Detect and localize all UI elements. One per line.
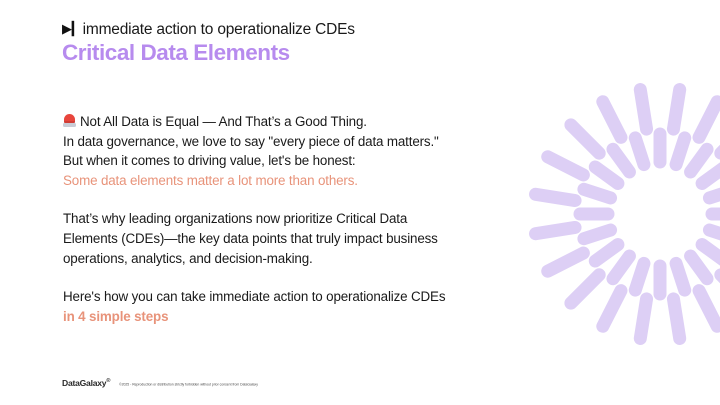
sunburst-ray [673, 299, 679, 339]
sunburst-rays [536, 90, 720, 339]
fast-forward-icon: ▶▎ [62, 19, 82, 38]
page-title: Critical Data Elements [62, 40, 532, 66]
sunburst-ray [595, 245, 618, 261]
cta-accent-line: in 4 simple steps [63, 307, 548, 327]
sunburst-ray [640, 299, 646, 339]
slide-footer: DataGalaxy® ©2025 - Reproduction or dist… [62, 378, 258, 388]
intro-lead-text: Not All Data is Equal — And That’s a Goo… [80, 114, 367, 129]
sunburst-ray [548, 253, 584, 271]
sunburst-ray [676, 263, 685, 290]
sunburst-ray [635, 263, 644, 290]
datagalaxy-logo: DataGalaxy® [62, 378, 110, 388]
slide-header: ▶▎immediate action to operationalize CDE… [62, 20, 532, 66]
why-line-2: Elements (CDEs)—the key data points that… [63, 229, 548, 249]
sunburst-ray [699, 291, 717, 327]
sunburst-ray [702, 245, 720, 261]
sunburst-ray [691, 149, 707, 172]
sunburst-ray [584, 189, 611, 198]
slide-canvas: ▶▎immediate action to operationalize CDE… [0, 0, 720, 405]
sunburst-ray [676, 138, 685, 165]
intro-line-2: In data governance, we love to say "ever… [63, 132, 548, 152]
cta-line-1: Here's how you can take immediate action… [63, 287, 548, 307]
sunburst-ray [673, 90, 679, 130]
body-copy: Not All Data is Equal — And That’s a Goo… [63, 112, 548, 326]
sunburst-ray [709, 189, 720, 198]
sunburst-ray [691, 256, 707, 279]
sunburst-ray [584, 230, 611, 239]
intro-lead-line: Not All Data is Equal — And That’s a Goo… [63, 112, 548, 132]
paragraph-intro: Not All Data is Equal — And That’s a Goo… [63, 112, 548, 190]
sunburst-ray [613, 149, 629, 172]
sunburst-ray [640, 90, 646, 130]
intro-accent-line: Some data elements matter a lot more tha… [63, 171, 548, 191]
why-line-3: operations, analytics, and decision-maki… [63, 249, 548, 269]
eyebrow-label: immediate action to operationalize CDEs [83, 21, 355, 38]
sunburst-ray [709, 230, 720, 239]
intro-line-3: But when it comes to driving value, let'… [63, 151, 548, 171]
eyebrow-text: ▶▎immediate action to operationalize CDE… [62, 20, 532, 39]
sunburst-ray [635, 138, 644, 165]
sunburst-ray [548, 157, 584, 175]
paragraph-why: That’s why leading organizations now pri… [63, 209, 548, 268]
sunburst-ray [603, 291, 621, 327]
sunburst-ray [571, 125, 599, 153]
sunburst-graphic [524, 78, 720, 350]
siren-icon [63, 114, 76, 128]
copyright-text: ©2025 - Reproduction or distribution str… [119, 383, 258, 387]
sunburst-ray [699, 102, 717, 138]
sunburst-ray [613, 256, 629, 279]
registered-mark-icon: ® [106, 378, 110, 384]
sunburst-ray [595, 167, 618, 183]
sunburst-ray [571, 275, 599, 303]
logo-wordmark: DataGalaxy [62, 378, 106, 388]
sunburst-ray [702, 167, 720, 183]
paragraph-cta: Here's how you can take immediate action… [63, 287, 548, 326]
sunburst-ray [603, 102, 621, 138]
why-line-1: That’s why leading organizations now pri… [63, 209, 548, 229]
